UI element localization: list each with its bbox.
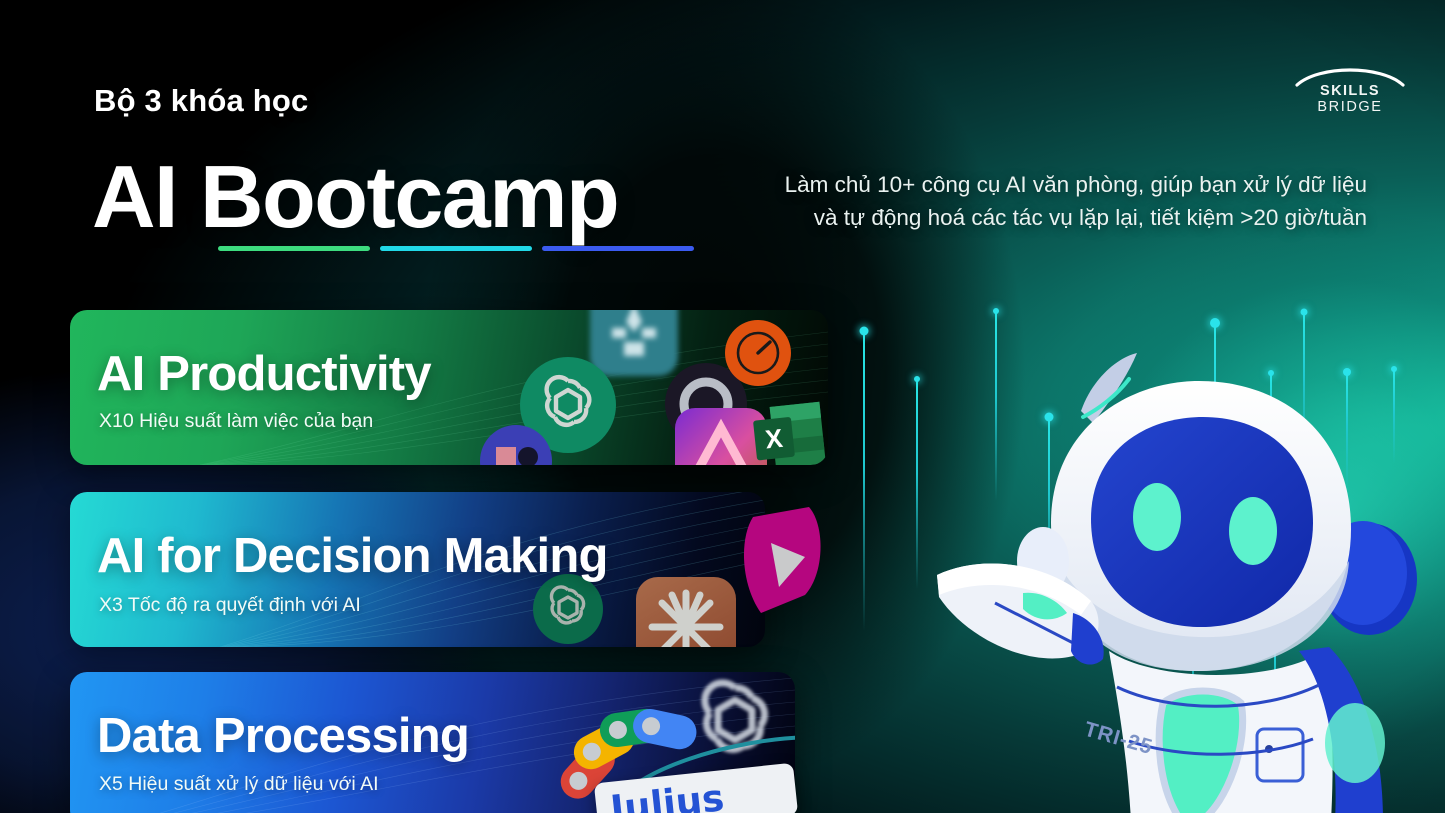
subtitle-block: Làm chủ 10+ công cụ AI văn phòng, giúp b… <box>737 168 1367 235</box>
chatgpt-icon <box>533 574 603 644</box>
subtitle-line-2: và tự động hoá các tác vụ lặp lại, tiết … <box>737 201 1367 234</box>
logo-word-skills: SKILLS <box>1320 83 1380 99</box>
card-title: AI Productivity <box>97 346 431 402</box>
kicker-text: Bộ 3 khóa học <box>94 83 308 119</box>
underline-bar-green <box>218 246 370 251</box>
card-title: AI for Decision Making <box>97 528 608 584</box>
card-subtitle: X10 Hiệu suất làm việc của bạn <box>99 410 373 433</box>
copilot-icon <box>480 425 552 465</box>
gauge-icon <box>725 320 791 386</box>
card-subtitle: X3 Tốc độ ra quyết định với AI <box>99 594 361 617</box>
logo-wordmark: SKILLS BRIDGE <box>1289 83 1411 115</box>
skills-bridge-logo: SKILLS BRIDGE <box>1289 63 1411 107</box>
title-underline-group <box>218 246 694 251</box>
julius-label: Julius <box>608 776 726 813</box>
logo-word-bridge: BRIDGE <box>1317 99 1382 115</box>
excel-icon: X <box>747 395 828 465</box>
subtitle-line-1: Làm chủ 10+ công cụ AI văn phòng, giúp b… <box>737 168 1367 201</box>
robot-mascot: TRI-25 <box>931 351 1445 813</box>
poster-canvas: SKILLS BRIDGE Bộ 3 khóa học AI Bootcamp … <box>0 0 1445 813</box>
powerbi-icon <box>735 503 827 621</box>
underline-bar-cyan <box>380 246 532 251</box>
course-card-ai-productivity[interactable]: X AI Productivity X10 Hiệu suất làm việc… <box>70 310 828 465</box>
page-title: AI Bootcamp <box>92 152 618 242</box>
card-title: Data Processing <box>97 708 469 764</box>
card-subtitle: X5 Hiệu suất xử lý dữ liệu với AI <box>99 773 379 796</box>
claude-icon <box>636 577 736 647</box>
course-card-ai-decision-making[interactable]: AI for Decision Making X3 Tốc độ ra quyế… <box>70 492 765 647</box>
underline-bar-blue <box>542 246 694 251</box>
